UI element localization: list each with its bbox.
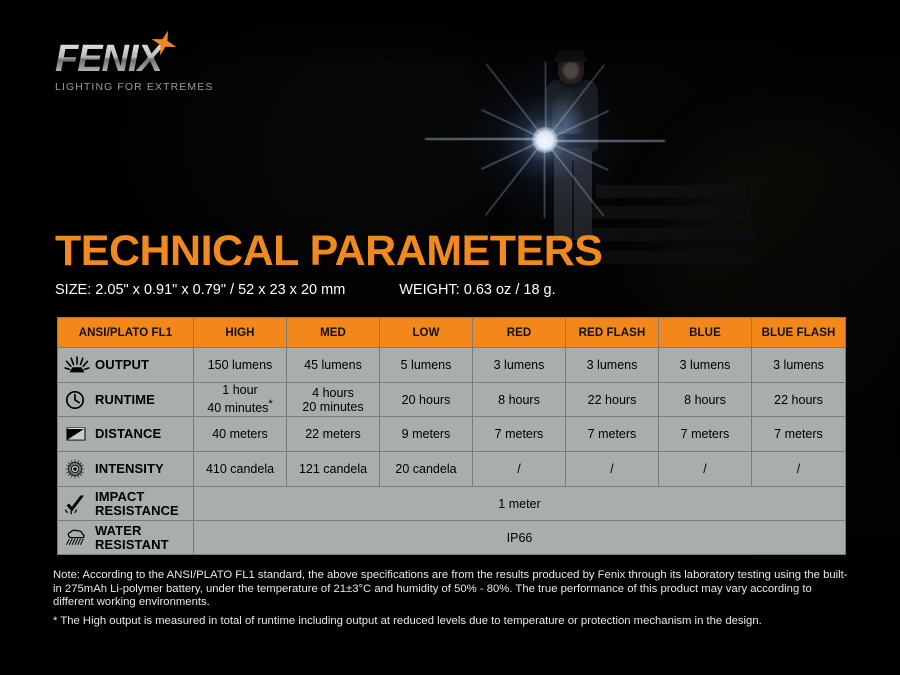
cell-intensity-med: 121 candela (287, 452, 380, 487)
row-label-text: WATER RESISTANT (95, 524, 169, 552)
row-label-distance: DISTANCE (58, 417, 194, 452)
cell-output-med: 45 lumens (287, 348, 380, 383)
fenix-logo: FENIX LIGHTING FOR EXTREMES (55, 40, 213, 93)
col-header-med: MED (287, 318, 380, 348)
technical-parameters-table: ANSI/PLATO FL1 HIGH MED LOW RED RED FLAS… (57, 317, 846, 555)
cell-runtime-red: 8 hours (473, 383, 566, 417)
col-header-red-flash: RED FLASH (566, 318, 659, 348)
size-weight-line: SIZE: 2.05" x 0.91" x 0.79" / 52 x 23 x … (55, 282, 556, 298)
cell-runtime-red-flash: 22 hours (566, 383, 659, 417)
cell-distance-blue: 7 meters (659, 417, 752, 452)
cell-runtime-high: 1 hour 40 minutes* (194, 383, 287, 417)
table-row-impact-resistance: IMPACT RESISTANCE 1 meter (58, 487, 846, 521)
clock-icon (64, 389, 90, 411)
row-label-text: OUTPUT (95, 358, 149, 372)
impact-check-icon (64, 493, 90, 515)
intensity-target-icon (64, 458, 90, 480)
col-header-blue: BLUE (659, 318, 752, 348)
table-header-row: ANSI/PLATO FL1 HIGH MED LOW RED RED FLAS… (58, 318, 846, 348)
cell-intensity-red-flash: / (566, 452, 659, 487)
cell-water-resistant-value: IP66 (194, 521, 846, 555)
impact-label-line1: IMPACT (95, 489, 144, 504)
table-row-water-resistant: WATER RESISTANT IP66 (58, 521, 846, 555)
impact-label-line2: RESISTANCE (95, 503, 179, 518)
water-rain-cloud-icon (64, 527, 90, 549)
cell-runtime-med-l2: 20 minutes (287, 400, 379, 414)
cell-distance-med: 22 meters (287, 417, 380, 452)
col-header-ansi: ANSI/PLATO FL1 (58, 318, 194, 348)
cell-intensity-low: 20 candela (380, 452, 473, 487)
cell-intensity-red: / (473, 452, 566, 487)
row-label-text: RUNTIME (95, 393, 155, 407)
cell-distance-red-flash: 7 meters (566, 417, 659, 452)
cell-output-blue-flash: 3 lumens (752, 348, 846, 383)
cell-intensity-blue: / (659, 452, 752, 487)
cell-intensity-high: 410 candela (194, 452, 287, 487)
row-label-impact-resistance: IMPACT RESISTANCE (58, 487, 194, 521)
water-label-line1: WATER (95, 523, 141, 538)
water-label-line2: RESISTANT (95, 537, 169, 552)
cell-output-high: 150 lumens (194, 348, 287, 383)
table-row-intensity: INTENSITY 410 candela 121 candela 20 can… (58, 452, 846, 487)
cell-distance-blue-flash: 7 meters (752, 417, 846, 452)
cell-runtime-med-l1: 4 hours (287, 386, 379, 400)
row-label-text: INTENSITY (95, 462, 164, 476)
footnote-1: Note: According to the ANSI/PLATO FL1 st… (53, 569, 853, 610)
cell-distance-high: 40 meters (194, 417, 287, 452)
cell-impact-resistance-value: 1 meter (194, 487, 846, 521)
row-label-text: DISTANCE (95, 427, 161, 441)
cell-distance-low: 9 meters (380, 417, 473, 452)
distance-beam-icon (64, 423, 90, 445)
table-row-distance: DISTANCE 40 meters 22 meters 9 meters 7 … (58, 417, 846, 452)
footnotes: Note: According to the ANSI/PLATO FL1 st… (53, 569, 853, 628)
cell-runtime-med: 4 hours 20 minutes (287, 383, 380, 417)
col-header-blue-flash: BLUE FLASH (752, 318, 846, 348)
weight-text: WEIGHT: 0.63 oz / 18 g. (399, 282, 555, 298)
cell-runtime-high-l1: 1 hour (194, 383, 286, 397)
cell-output-blue: 3 lumens (659, 348, 752, 383)
cell-intensity-blue-flash: / (752, 452, 846, 487)
cell-distance-red: 7 meters (473, 417, 566, 452)
output-beam-icon (64, 354, 90, 376)
col-header-high: HIGH (194, 318, 287, 348)
cell-runtime-low: 20 hours (380, 383, 473, 417)
footnote-2: * The High output is measured in total o… (53, 615, 853, 629)
table-row-runtime: RUNTIME 1 hour 40 minutes* 4 hours 20 mi… (58, 383, 846, 417)
page-title: TECHNICAL PARAMETERS (55, 228, 602, 274)
table-row-output: OUTPUT 150 lumens 45 lumens 5 lumens 3 l… (58, 348, 846, 383)
row-label-runtime: RUNTIME (58, 383, 194, 417)
cell-output-red-flash: 3 lumens (566, 348, 659, 383)
row-label-water-resistant: WATER RESISTANT (58, 521, 194, 555)
row-label-text: IMPACT RESISTANCE (95, 490, 179, 518)
footnote-marker: * (268, 398, 272, 410)
row-label-output: OUTPUT (58, 348, 194, 383)
cell-output-red: 3 lumens (473, 348, 566, 383)
cell-runtime-blue: 8 hours (659, 383, 752, 417)
cell-runtime-blue-flash: 22 hours (752, 383, 846, 417)
col-header-low: LOW (380, 318, 473, 348)
cell-output-low: 5 lumens (380, 348, 473, 383)
brand-tagline: LIGHTING FOR EXTREMES (55, 81, 213, 93)
row-label-intensity: INTENSITY (58, 452, 194, 487)
brand-name: FENIX (55, 40, 213, 78)
col-header-red: RED (473, 318, 566, 348)
size-text: SIZE: 2.05" x 0.91" x 0.79" / 52 x 23 x … (55, 282, 345, 298)
cell-runtime-high-l2: 40 minutes (207, 402, 268, 416)
